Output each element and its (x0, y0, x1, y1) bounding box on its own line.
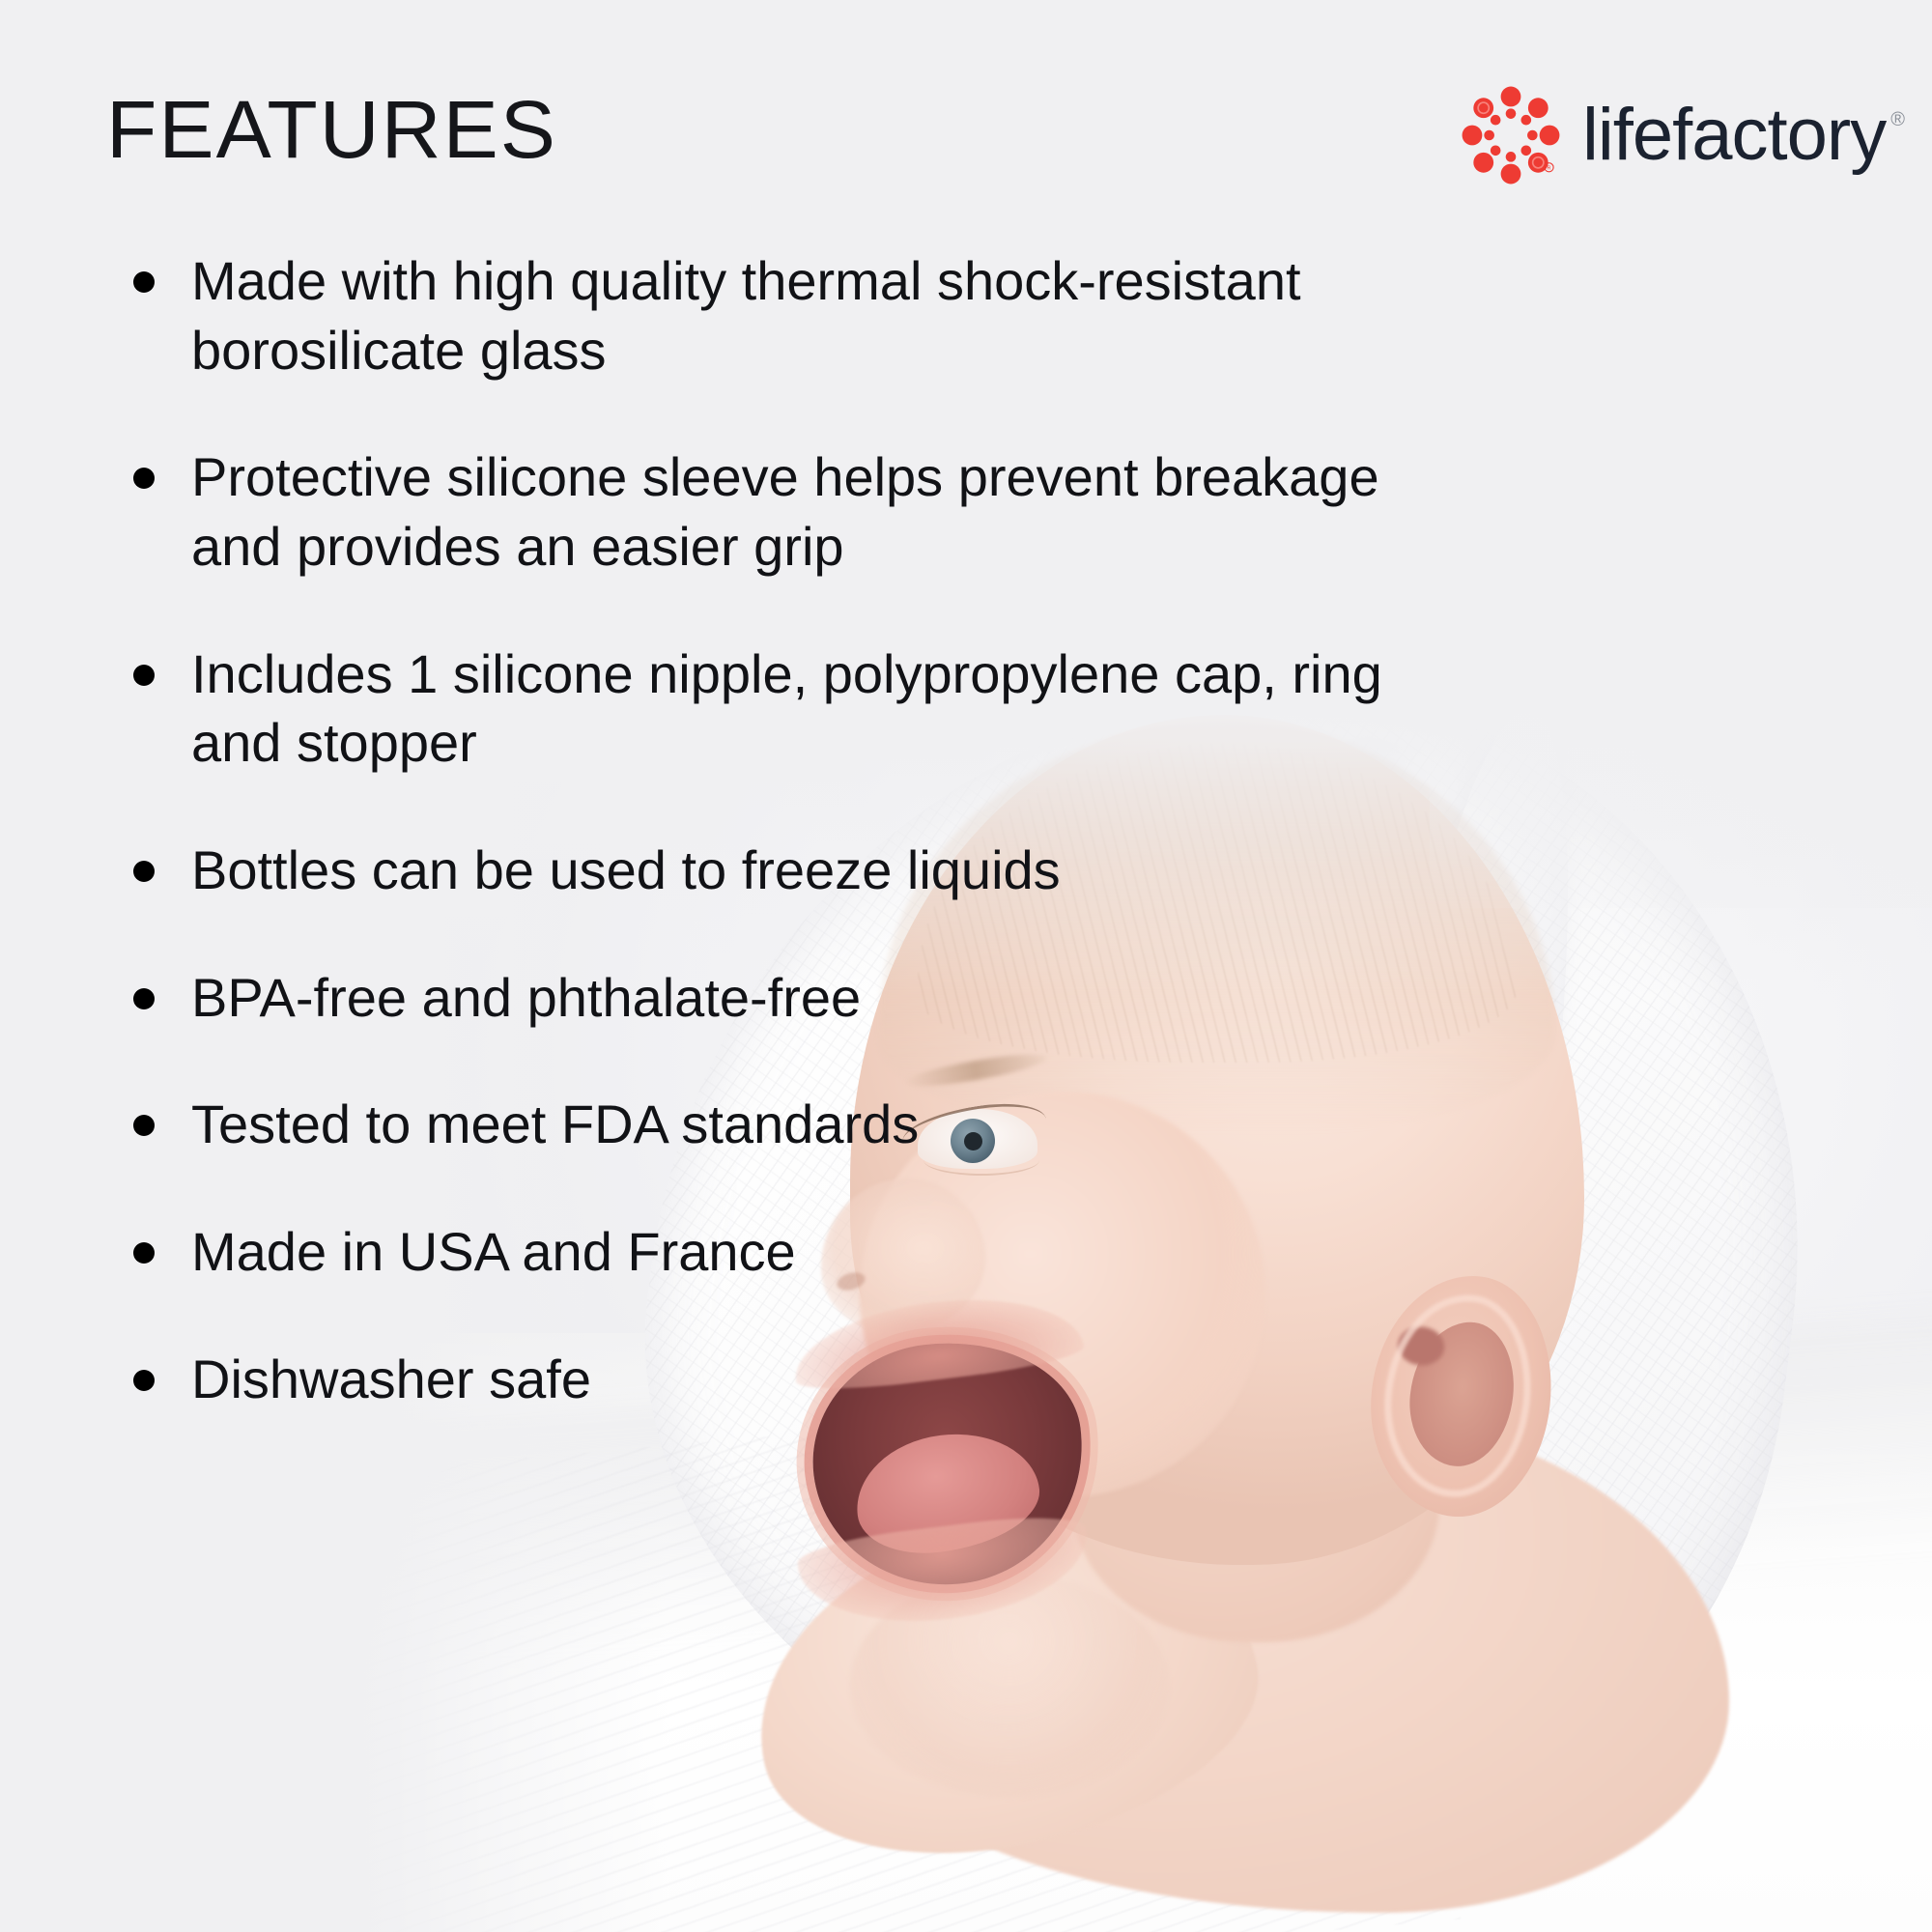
brand-wordmark: lifefactory ® (1582, 99, 1905, 172)
list-item: Made in USA and France (106, 1217, 1478, 1287)
list-item: Tested to meet FDA standards (106, 1090, 1478, 1159)
photo-topright-fade (1430, 676, 1932, 908)
brand-name: lifefactory (1582, 99, 1886, 172)
list-item: Made with high quality thermal shock-res… (106, 246, 1478, 384)
list-item: Includes 1 silicone nipple, polypropylen… (106, 639, 1478, 778)
list-item: Protective silicone sleeve helps prevent… (106, 442, 1478, 581)
list-item: BPA-free and phthalate-free (106, 963, 1478, 1033)
lifefactory-dot-circle-icon: R (1461, 85, 1561, 185)
svg-text:R: R (1548, 166, 1551, 172)
page-title: FEATURES (106, 89, 557, 170)
features-list: Made with high quality thermal shock-res… (106, 246, 1478, 1413)
brand-logo[interactable]: R lifefactory ® (1461, 85, 1905, 185)
page-header: FEATURES (0, 0, 1932, 222)
list-item: Bottles can be used to freeze liquids (106, 836, 1478, 905)
registered-trademark-icon: ® (1890, 110, 1905, 129)
list-item: Dishwasher safe (106, 1345, 1478, 1414)
